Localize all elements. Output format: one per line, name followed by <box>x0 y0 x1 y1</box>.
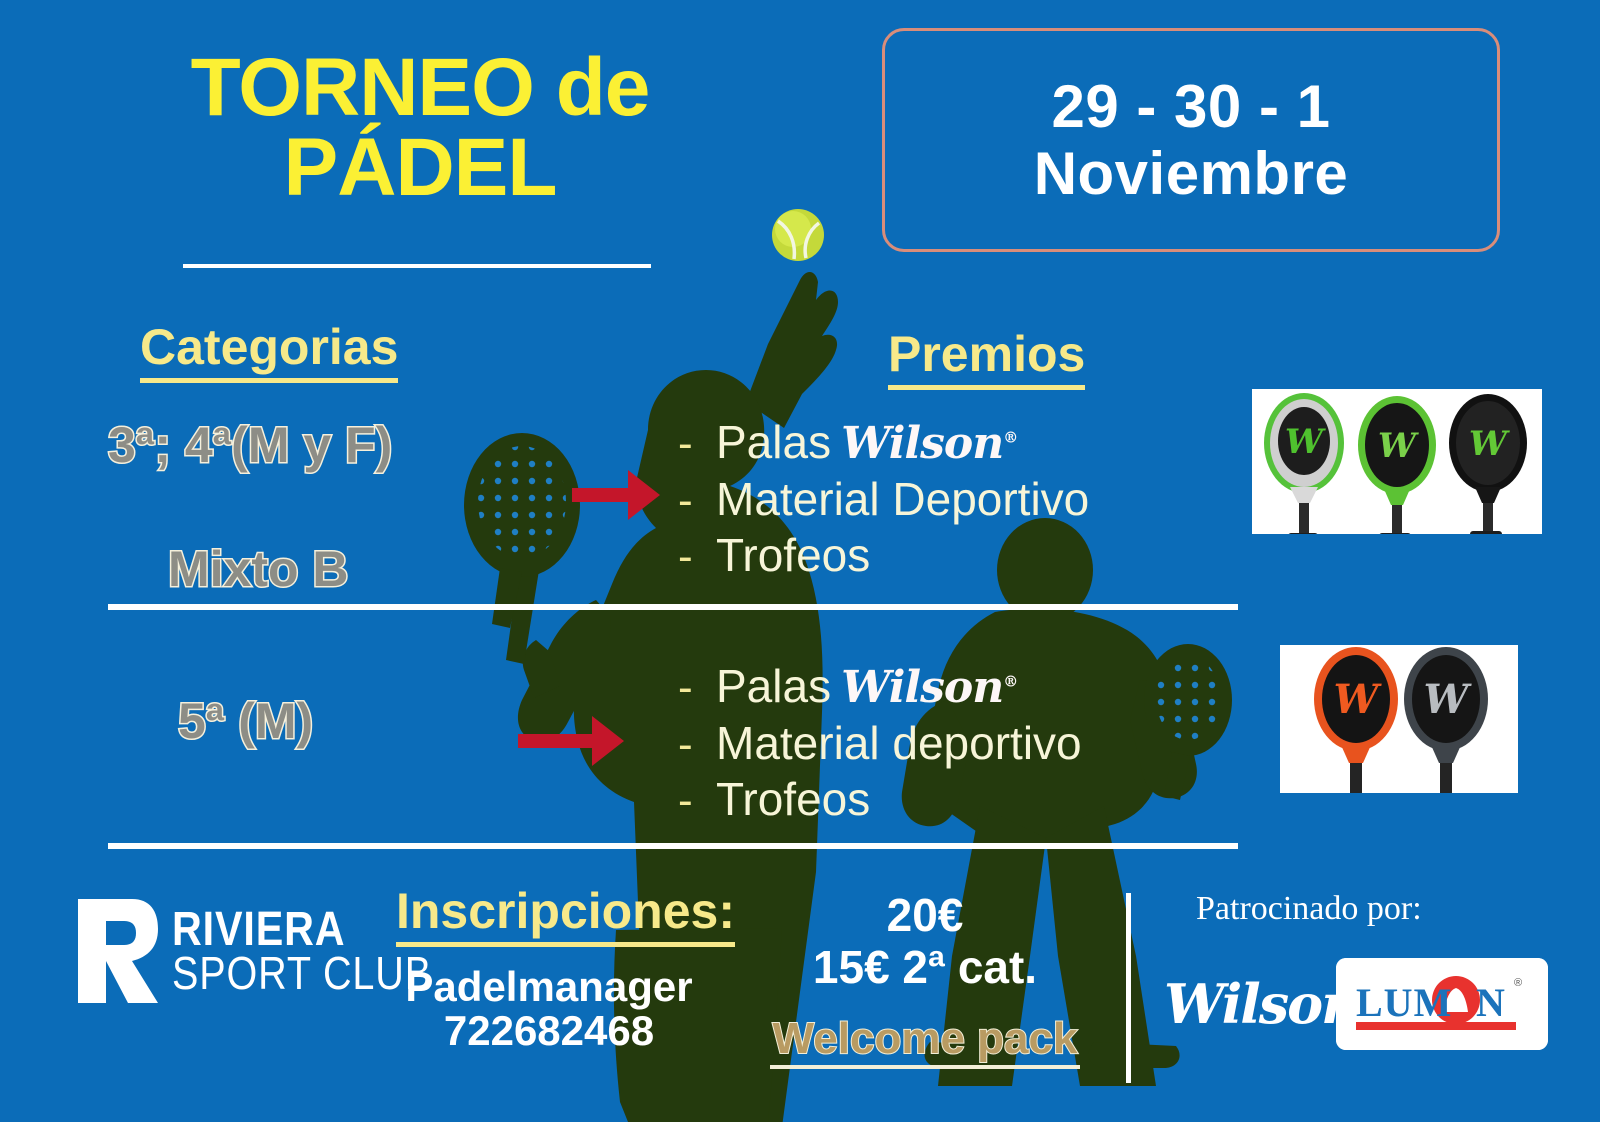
bullet-dash: - <box>678 779 716 823</box>
prize-list-group-1: - Palas Wilson® - Material Deportivo - T… <box>678 418 1089 586</box>
categories-heading-underline <box>140 378 398 383</box>
category-item-1: 3ª; 4ª(M y F) <box>108 416 392 474</box>
prize-label: Trofeos <box>716 775 870 825</box>
categories-heading: Categorias <box>140 318 398 383</box>
svg-text:®: ® <box>1514 977 1522 989</box>
title-line-1: TORNEO de <box>110 48 730 128</box>
inscriptions-heading-label: Inscripciones: <box>396 883 735 939</box>
divider-horizontal-bottom <box>108 843 1238 849</box>
date-days: 29 - 30 - 1 <box>1034 73 1349 140</box>
prize-item: - Palas Wilson® <box>678 418 1089 469</box>
prize-item: - Material deportivo <box>678 719 1082 769</box>
wilson-sponsor-text: Wilson <box>1164 972 1358 1036</box>
club-name-line-2: SPORT CLUB <box>172 952 432 994</box>
prize-label: Trofeos <box>716 531 870 581</box>
inscriptions-platform: Padelmanager <box>404 963 694 1011</box>
bullet-dash: - <box>678 723 716 767</box>
tennis-ball-icon <box>770 207 826 263</box>
lumon-sponsor-logo: LUM N ® <box>1336 958 1548 1050</box>
svg-text:LUM: LUM <box>1356 980 1452 1025</box>
svg-text:W: W <box>1378 426 1419 466</box>
price-second-category: 15€ 2ª cat. <box>760 940 1090 994</box>
prizes-heading-label: Premios <box>888 326 1085 382</box>
prize-label: Palas <box>716 418 831 468</box>
price-main: 20€ <box>790 888 1060 942</box>
inscriptions-phone: 722682468 <box>404 1007 694 1055</box>
bullet-dash: - <box>678 535 716 579</box>
bullet-dash: - <box>678 479 716 523</box>
date-text: 29 - 30 - 1 Noviembre <box>1034 73 1349 207</box>
date-month: Noviembre <box>1034 140 1349 207</box>
title-divider <box>183 264 651 268</box>
date-box: 29 - 30 - 1 Noviembre <box>882 28 1500 252</box>
bullet-dash: - <box>678 422 716 466</box>
prize-label: Material deportivo <box>716 719 1082 769</box>
inscriptions-heading-underline <box>396 942 735 947</box>
bullet-dash: - <box>678 666 716 710</box>
divider-horizontal-top <box>108 604 1238 610</box>
riviera-r-mark-icon <box>72 895 158 1007</box>
prize-item: - Palas Wilson® <box>678 662 1082 713</box>
wilson-wordmark: Wilson® <box>841 418 1017 469</box>
category-item-2: Mixto B <box>168 540 349 598</box>
sponsors-title: Patrocinado por: <box>1196 890 1422 928</box>
title-line-2: PÁDEL <box>110 128 730 208</box>
prize-item: - Trofeos <box>678 775 1082 825</box>
prize-label: Material Deportivo <box>716 475 1089 525</box>
red-arrow-icon-top <box>572 462 662 528</box>
svg-text:N: N <box>1476 980 1505 1025</box>
racket-photo-top: W W W <box>1252 389 1542 534</box>
club-name-line-1: RIVIERA <box>172 908 432 952</box>
category-item-3: 5ª (M) <box>178 692 313 750</box>
wilson-wordmark: Wilson® <box>841 662 1017 713</box>
svg-text:W: W <box>1334 676 1383 723</box>
prize-item: - Trofeos <box>678 531 1089 581</box>
welcome-pack-underline <box>770 1065 1080 1069</box>
categories-heading-label: Categorias <box>140 319 398 375</box>
welcome-pack-label: Welcome pack <box>770 1014 1080 1069</box>
prize-label: Palas <box>716 662 831 712</box>
prize-item: - Material Deportivo <box>678 475 1089 525</box>
padel-racket-silhouette-left <box>464 433 580 628</box>
welcome-pack-text: Welcome pack <box>773 1014 1078 1063</box>
red-arrow-icon-bottom <box>518 708 628 774</box>
svg-text:W: W <box>1469 424 1510 464</box>
divider-vertical-sponsors <box>1126 893 1131 1083</box>
prize-list-group-2: - Palas Wilson® - Material deportivo - T… <box>678 662 1082 830</box>
prizes-heading: Premios <box>888 325 1085 390</box>
padel-racket-silhouette-right <box>1144 644 1232 800</box>
tournament-poster: TORNEO de PÁDEL 29 - 30 - 1 Noviembre Ca… <box>0 0 1600 1122</box>
inscriptions-heading: Inscripciones: <box>396 882 735 947</box>
prizes-heading-underline <box>888 385 1085 390</box>
svg-text:W: W <box>1424 676 1473 723</box>
page-title: TORNEO de PÁDEL <box>110 48 730 209</box>
racket-photo-bottom: W W <box>1280 645 1518 793</box>
svg-text:W: W <box>1285 422 1326 462</box>
